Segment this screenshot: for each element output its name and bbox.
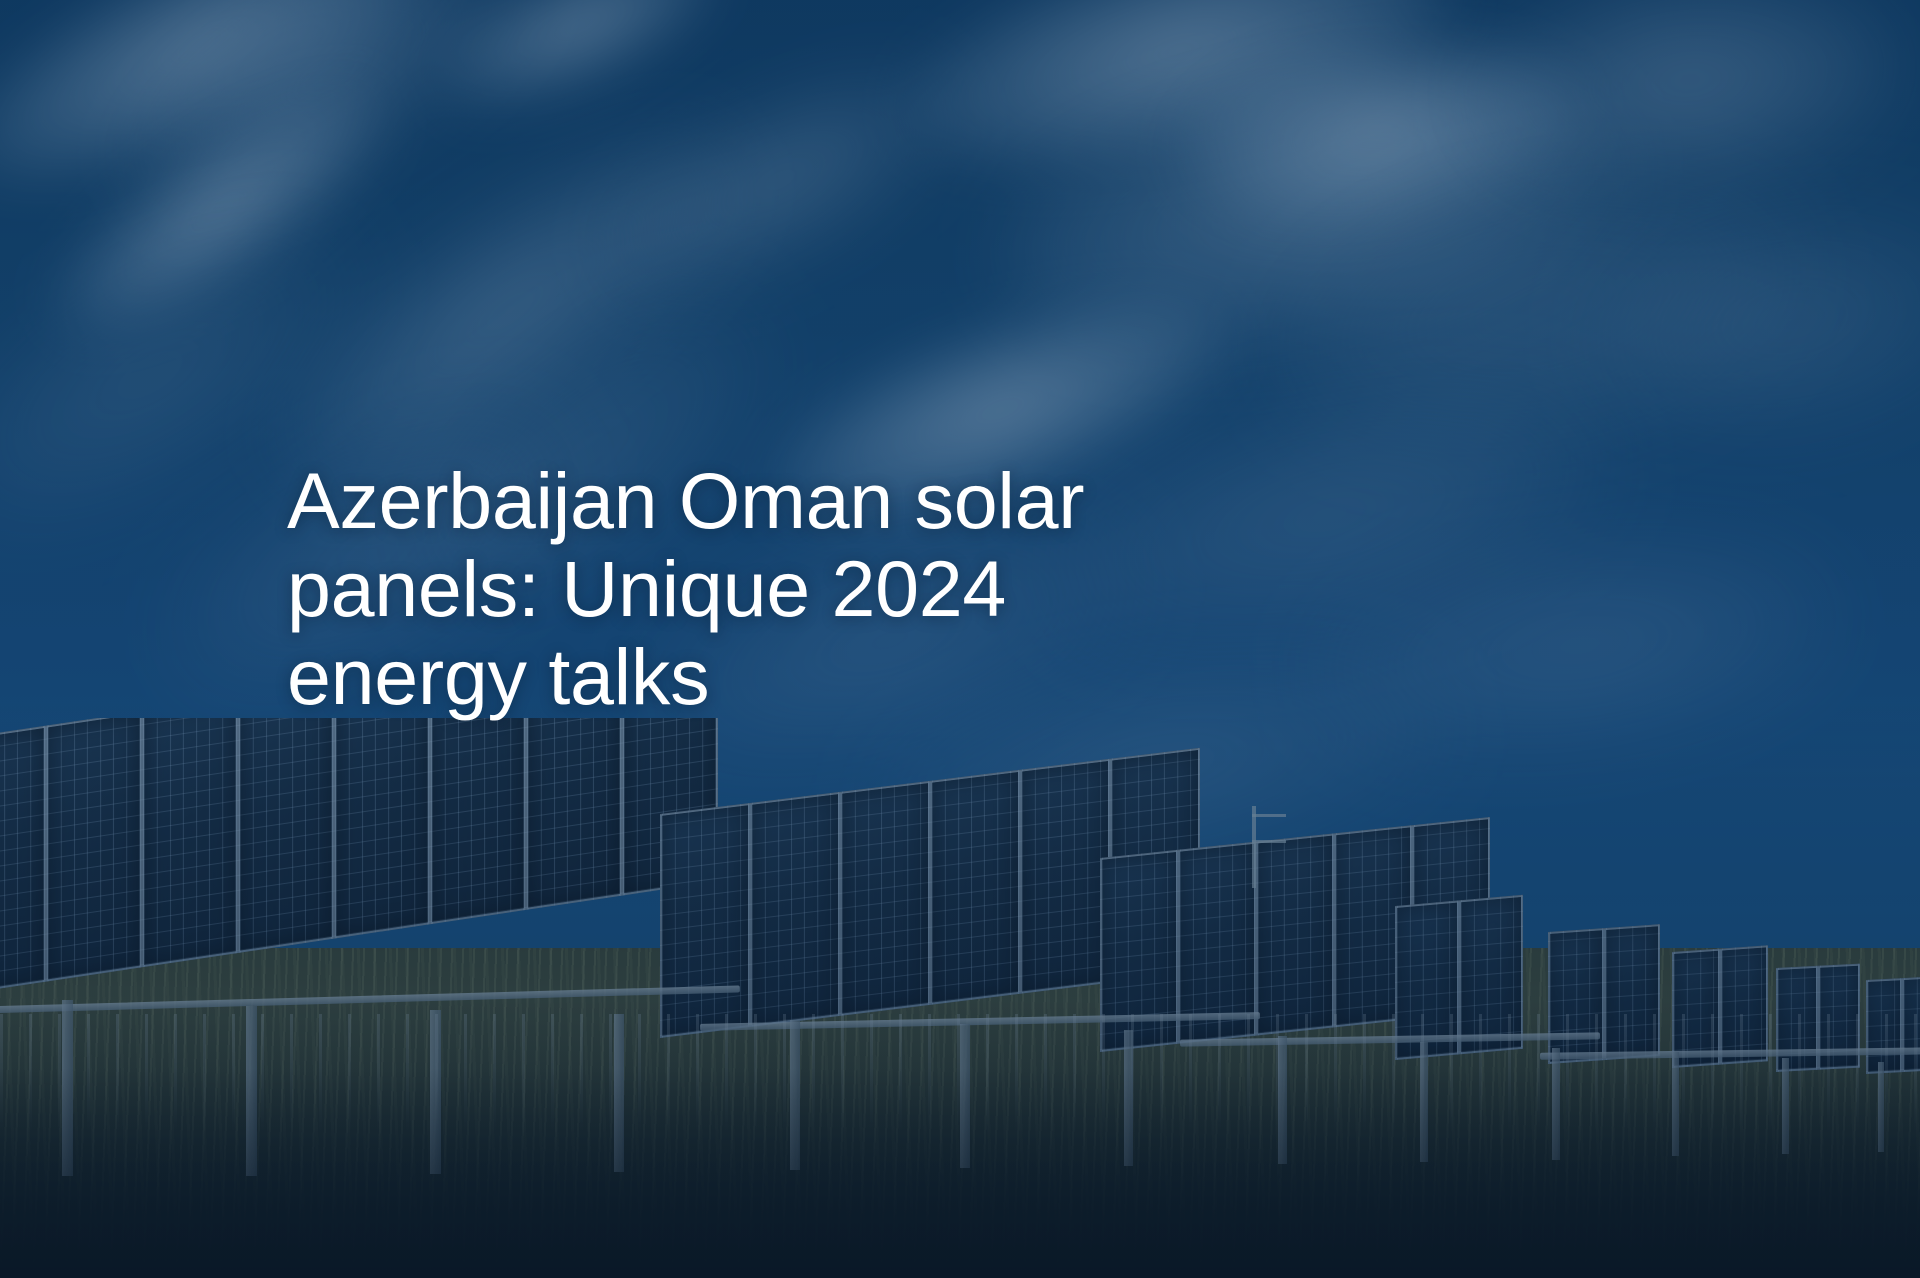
page-title: Azerbaijan Oman solar panels: Unique 202… xyxy=(287,457,1187,721)
antenna-arm xyxy=(1252,814,1286,817)
antenna-mast xyxy=(1252,806,1256,888)
foreground-shadow xyxy=(0,1068,1920,1278)
solar-panel-farm xyxy=(0,718,1920,1278)
hero-banner: Azerbaijan Oman solar panels: Unique 202… xyxy=(0,0,1920,1278)
antenna-arm xyxy=(1252,840,1286,843)
